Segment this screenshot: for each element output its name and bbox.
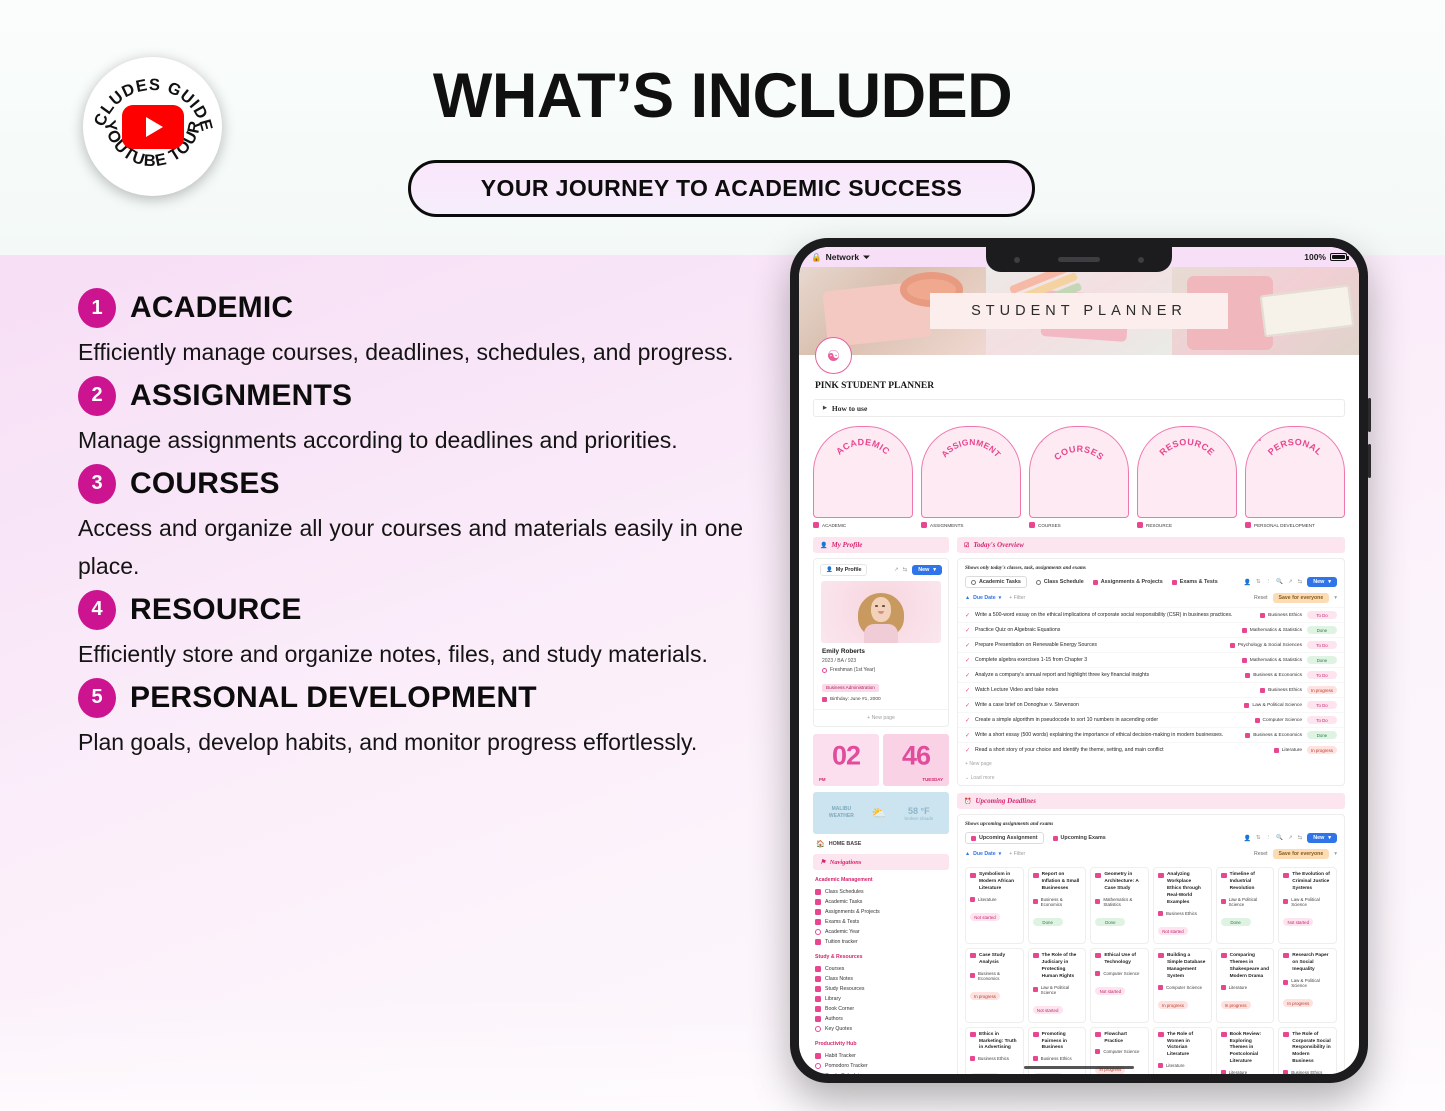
item-label: Library xyxy=(825,996,841,1002)
sidebar-item-academic-year[interactable]: Academic Year xyxy=(813,927,949,937)
check-icon[interactable]: ✓ xyxy=(965,717,970,724)
subject-tag: Business & Economics xyxy=(1253,673,1302,678)
sort-icon[interactable]: ⇅ xyxy=(1256,835,1261,841)
table-row: ✓Write a case brief on Donoghue v. Steve… xyxy=(958,697,1344,712)
feature-description: Efficiently store and organize notes, fi… xyxy=(78,636,743,674)
sort-due-date[interactable]: ▲ Due Date ▾ xyxy=(965,595,1001,601)
battery-icon xyxy=(1330,253,1347,261)
person-icon: 👤 xyxy=(820,542,827,549)
new-page-button[interactable]: + New page xyxy=(814,709,948,726)
sidebar-item-key-quotes[interactable]: Key Quotes xyxy=(813,1024,949,1034)
deadline-title: Timeline of Industrial Revolution xyxy=(1221,872,1270,893)
book-icon xyxy=(1158,873,1164,878)
nav-card-courses-tile[interactable]: COURSES xyxy=(1029,426,1129,518)
deadline-subject: Law & Political Science xyxy=(1221,897,1270,907)
nav-card-resource[interactable]: RESOURCE xyxy=(1137,426,1237,528)
check-icon[interactable]: ✓ xyxy=(965,687,970,694)
nav-card-assignment[interactable]: ASSIGNMENT xyxy=(921,426,1021,528)
deadline-title: Flowchart Practice xyxy=(1095,1032,1144,1046)
group-label: Productivity Hub xyxy=(815,1041,949,1047)
task-text: Watch Lecture Video and take notes xyxy=(975,687,1255,693)
youtube-tour-badge[interactable]: INCLUDES GUIDED YOUTUBE TOUR xyxy=(83,57,222,196)
calendar-icon: ⏰ xyxy=(964,798,971,805)
status-badge: In progress xyxy=(1221,1001,1251,1009)
caption-label: RESOURCE xyxy=(1146,523,1172,528)
deadline-card[interactable]: The Evolution of Criminal Justice System… xyxy=(1278,867,1337,944)
deadline-title: The Role of the Judiciary in Protecting … xyxy=(1033,953,1082,981)
profile-photo xyxy=(821,581,941,643)
save-for-everyone-button[interactable]: Save for everyone xyxy=(1273,593,1330,603)
nav-card-assignment-caption: ASSIGNMENTS xyxy=(921,522,1021,528)
sidebar: 👤 My Profile 👤 My Profile ↗ ⇆ xyxy=(813,537,949,1074)
item-label: Academic Tasks xyxy=(825,899,862,905)
sort-due-date[interactable]: ▲ Due Date ▾ xyxy=(965,851,1001,857)
expand-icon[interactable]: ↗ xyxy=(894,567,899,573)
subject-tag: Business & Economics xyxy=(1253,733,1302,738)
feature-title: COURSES xyxy=(130,467,280,501)
item-label: Class Schedules xyxy=(825,889,864,895)
new-page-button[interactable]: + New page xyxy=(958,757,1344,771)
sidebar-item-assignments-projects[interactable]: Assignments & Projects xyxy=(813,907,949,917)
status-badge: Done xyxy=(970,1073,1000,1074)
check-icon[interactable]: ✓ xyxy=(965,627,970,634)
status-badge: To Do xyxy=(1307,641,1337,649)
clipboard-pencil-icon xyxy=(921,426,942,447)
profile-name: Emily Roberts xyxy=(822,648,940,655)
overview-tabs: Academic Tasks Class Schedule Assignment… xyxy=(958,571,1344,593)
chevron-down-icon[interactable]: ▾ xyxy=(1334,595,1337,601)
sidebar-item-academic-tasks[interactable]: Academic Tasks xyxy=(813,897,949,907)
deadline-card[interactable]: Research Paper on Social InequalityLaw &… xyxy=(1278,948,1337,1023)
sidebar-item-class-schedules[interactable]: Class Schedules xyxy=(813,887,949,897)
deadline-title: Promoting Fairness in Business xyxy=(1033,1032,1082,1053)
check-icon[interactable]: ✓ xyxy=(965,657,970,664)
status-badge: In progress xyxy=(1158,1001,1188,1009)
new-page-label: New page xyxy=(872,715,895,721)
tablet-notch xyxy=(986,247,1172,272)
feature-number: 3 xyxy=(78,464,116,504)
sidebar-item-book-corner[interactable]: Book Corner xyxy=(813,1004,949,1014)
tab-assignments-projects[interactable]: Assignments & Projects xyxy=(1093,579,1163,585)
subject-tag: Business Ethics xyxy=(1268,688,1302,693)
svg-text:RESOURCE: RESOURCE xyxy=(1158,437,1217,458)
expand-icon[interactable]: ↗ xyxy=(1288,579,1293,585)
home-base-link[interactable]: 🏠 HOME BASE xyxy=(813,834,949,848)
nav-card-assignment-tile[interactable]: ASSIGNMENT xyxy=(921,426,1021,518)
deadline-card[interactable]: Building a Simple Database Management Sy… xyxy=(1153,948,1212,1023)
book-icon xyxy=(1095,873,1101,878)
weather-label: WEATHER xyxy=(829,813,854,821)
tab-upcoming-exams[interactable]: Upcoming Exams xyxy=(1053,835,1106,841)
item-label: Authors xyxy=(825,1016,843,1022)
todays-overview-header: ☑ Today's Overview xyxy=(957,537,1345,553)
birthday-label: Birthday: June #1, 2000 xyxy=(830,697,881,702)
save-for-everyone-button[interactable]: Save for everyone xyxy=(1273,849,1330,859)
person-add-icon[interactable]: 👤 xyxy=(1244,835,1251,842)
feature-description: Manage assignments according to deadline… xyxy=(78,422,743,460)
status-badge: Not started xyxy=(1283,918,1313,926)
task-text: Write a case brief on Donoghue v. Steven… xyxy=(975,702,1239,708)
feature-title: ACADEMIC xyxy=(130,291,293,325)
deadline-subject: Computer Science xyxy=(1158,985,1207,990)
feature-item: 1 ACADEMIC Efficiently manage courses, d… xyxy=(78,288,748,372)
deadline-title: Comparing Themes in Shakespeare and Mode… xyxy=(1221,953,1270,981)
tab-exams-tests[interactable]: Exams & Tests xyxy=(1172,579,1218,585)
avatar xyxy=(866,591,896,631)
status-badge: To Do xyxy=(1307,716,1337,724)
deadline-card[interactable]: Ethical Use of TechnologyComputer Scienc… xyxy=(1090,948,1149,1023)
chevron-down-icon: ▾ xyxy=(1328,579,1331,585)
nav-card-personal[interactable]: PERSONAL xyxy=(1245,426,1345,528)
tab-label: Assignments & Projects xyxy=(1101,579,1163,585)
sidebar-item-exams-tests[interactable]: Exams & Tests xyxy=(813,917,949,927)
sidebar-item-courses[interactable]: Courses xyxy=(813,964,949,974)
card-toolbar[interactable]: ↗ ⇆ xyxy=(894,567,907,573)
circle-icon xyxy=(822,668,827,673)
section-title: My Profile xyxy=(831,541,862,549)
deadline-subject: Business Ethics xyxy=(1158,911,1207,916)
table-row: ✓Practice Quiz on Algebraic EquationsMat… xyxy=(958,622,1344,637)
status-badge: In progress xyxy=(1033,1073,1063,1074)
chevron-down-icon: ▾ xyxy=(933,567,936,573)
task-text: Write a short essay (500 words) explaini… xyxy=(975,732,1240,738)
sort-icon[interactable]: ⇅ xyxy=(1256,579,1261,585)
check-icon[interactable]: ✓ xyxy=(965,732,970,739)
deadline-title: Geometry in Architecture: A Case Study xyxy=(1095,872,1144,893)
new-button[interactable]: New ▾ xyxy=(1307,833,1337,843)
sidebar-item-grade-calculator[interactable]: Grade Calculator xyxy=(813,1071,949,1074)
deadline-card[interactable]: Timeline of Industrial RevolutionLaw & P… xyxy=(1216,867,1275,944)
tab-upcoming-assignment[interactable]: Upcoming Assignment xyxy=(965,832,1044,844)
book-icon xyxy=(1033,873,1039,878)
filter-icon[interactable]: ⋮ xyxy=(1266,579,1272,585)
sensor-icon xyxy=(1138,257,1144,263)
clock-widget: 02 PM 46 TUESDAY xyxy=(813,734,949,786)
nav-card-resource-tile[interactable]: RESOURCE xyxy=(1137,426,1237,518)
deadline-title: Book Review: Exploring Themes in Postcol… xyxy=(1221,1032,1270,1067)
status-badge: In progress xyxy=(1307,686,1337,694)
caption-label: COURSES xyxy=(1038,523,1061,528)
status-badge: Not started xyxy=(970,913,1000,921)
status-badge: Not started xyxy=(1033,1006,1063,1014)
info-icon xyxy=(1245,522,1251,528)
group-label: Academic Management xyxy=(815,877,949,883)
year-label: Freshman (1st Year) xyxy=(830,667,875,673)
status-badge: Done xyxy=(1221,918,1251,926)
book-icon xyxy=(970,1032,976,1037)
book-icon xyxy=(970,873,976,878)
network-label: Network xyxy=(826,252,860,262)
tab-label: Class Schedule xyxy=(1044,579,1084,585)
folder-icon xyxy=(813,522,819,528)
svg-text:ACADEMIC: ACADEMIC xyxy=(834,437,892,457)
check-icon[interactable]: ✓ xyxy=(965,702,970,709)
item-label: Grade Calculator xyxy=(825,1073,864,1074)
book-icon xyxy=(1095,953,1101,958)
tab-label: Academic Tasks xyxy=(979,579,1021,585)
book-icon xyxy=(1221,1032,1227,1037)
deadline-subject: Business Ethics xyxy=(1283,1070,1332,1074)
task-text: Read a short story of your choice and id… xyxy=(975,747,1269,753)
nav-card-academic-tile[interactable]: ACADEMIC xyxy=(813,426,913,518)
new-label: New xyxy=(1313,579,1324,585)
wifi-icon: ⏷ xyxy=(863,252,870,263)
sidebar-item-study-resources[interactable]: Study Resources xyxy=(813,984,949,994)
deadline-card[interactable]: The Role of the Judiciary in Protecting … xyxy=(1028,948,1087,1023)
feature-title: PERSONAL DEVELOPMENT xyxy=(130,681,537,715)
sidebar-item-habit-tracker[interactable]: Habit Tracker xyxy=(813,1051,949,1061)
deadline-card[interactable]: The Role of Women in Victorian Literatur… xyxy=(1153,1027,1212,1074)
page-title: WHAT’S INCLUDED xyxy=(300,60,1145,132)
deadline-subject: Literature xyxy=(970,897,1019,902)
birthday-row: Birthday: June #1, 2000 xyxy=(822,697,940,702)
new-button[interactable]: New ▾ xyxy=(912,565,942,575)
person-growth-icon xyxy=(1245,426,1266,447)
check-icon[interactable]: ✓ xyxy=(965,747,970,754)
status-badge: To Do xyxy=(1307,701,1337,709)
deadlines-card: Shows upcoming assignments and exams Upc… xyxy=(957,814,1345,1074)
group-label: Study & Resources xyxy=(815,954,949,960)
chevron-down-icon: ▾ xyxy=(999,595,1002,601)
youtube-play-icon xyxy=(122,105,184,149)
tab-academic-tasks[interactable]: Academic Tasks xyxy=(965,576,1027,588)
pin-icon: ⚑ xyxy=(820,858,826,866)
task-list: ✓Write a 500-word essay on the ethical i… xyxy=(958,607,1344,757)
deadline-subject: Business Ethics xyxy=(1033,1056,1082,1061)
deadline-subject: Business Ethics xyxy=(970,1056,1019,1061)
nav-card-row: ACADEMIC xyxy=(799,417,1359,528)
status-badge: To Do xyxy=(1307,671,1337,679)
feature-description: Plan goals, develop habits, and monitor … xyxy=(78,724,743,762)
nav-card-courses[interactable]: COURSES xyxy=(1029,426,1129,528)
status-badge: In progress xyxy=(1283,999,1313,1007)
feature-number: 5 xyxy=(78,678,116,718)
deadline-title: Research Paper on Social Inequality xyxy=(1283,953,1332,974)
overview-card: Shows only today's classes, task, assign… xyxy=(957,558,1345,786)
book-icon xyxy=(1283,953,1289,958)
meridiem-label: PM xyxy=(819,777,826,782)
item-label: Exams & Tests xyxy=(825,919,859,925)
item-label: Pomodoro Tracker xyxy=(825,1063,868,1069)
deadline-card[interactable]: Case Study AnalysisBusiness & EconomicsI… xyxy=(965,948,1024,1023)
deadline-title: Report on Inflation & Small Businesses xyxy=(1033,872,1082,893)
tab-label: Upcoming Assignment xyxy=(979,835,1038,841)
item-label: Assignments & Projects xyxy=(825,909,880,915)
chevron-down-icon[interactable]: ▾ xyxy=(1334,851,1337,857)
tab-class-schedule[interactable]: Class Schedule xyxy=(1036,579,1084,585)
chevron-down-icon: ▾ xyxy=(1328,835,1331,841)
hero-title: STUDENT PLANNER xyxy=(930,293,1228,329)
person-add-icon[interactable]: 👤 xyxy=(1244,579,1251,586)
item-label: Habit Tracker xyxy=(825,1053,856,1059)
condition-label: broken clouds xyxy=(904,816,933,821)
task-text: Write a 500-word essay on the ethical im… xyxy=(975,612,1255,618)
table-row: ✓Analyze a company's annual report and h… xyxy=(958,667,1344,682)
book-icon xyxy=(1221,873,1227,878)
home-indicator xyxy=(1024,1066,1134,1070)
check-icon[interactable]: ✓ xyxy=(965,672,970,679)
search-icon[interactable]: 🔍 xyxy=(1276,579,1283,585)
deadlines-filterbar: ▲ Due Date ▾ + Filter Reset Save for eve… xyxy=(958,849,1344,863)
clock-minutes: 46 TUESDAY xyxy=(883,734,949,786)
weather-readout: 58 °F broken clouds xyxy=(904,806,933,821)
profile-chip[interactable]: 👤 My Profile xyxy=(820,564,867,576)
subtitle-pill: YOUR JOURNEY TO ACADEMIC SUCCESS xyxy=(408,160,1035,217)
deadline-subject: Business & Economics xyxy=(970,971,1019,981)
subject-tag: Law & Political Science xyxy=(1252,703,1302,708)
deadline-card[interactable]: Geometry in Architecture: A Case StudyMa… xyxy=(1090,867,1149,944)
home-base-label: HOME BASE xyxy=(829,841,862,847)
monitor-book-icon xyxy=(1137,426,1158,447)
deadline-subject: Mathematics & Statistics xyxy=(1095,897,1144,907)
reset-button[interactable]: Reset xyxy=(1254,595,1268,601)
new-button[interactable]: New ▾ xyxy=(1307,577,1337,587)
tablet-mockup: 🔒 Network ⏷ 100% STUDENT PLANNER ☯ PINK … xyxy=(790,238,1368,1083)
how-to-use-toggle[interactable]: ▶ How to use xyxy=(813,399,1345,417)
brand-logo-icon: ☯ xyxy=(815,337,852,374)
sidebar-item-tuition-tracker[interactable]: Tuition tracker xyxy=(813,937,949,947)
task-text: Create a simple algorithm in pseudocode … xyxy=(975,717,1250,723)
item-label: Courses xyxy=(825,966,844,972)
minutes-value: 46 xyxy=(902,740,930,771)
table-row: ✓Prepare Presentation on Renewable Energ… xyxy=(958,637,1344,652)
collapse-icon[interactable]: ⇆ xyxy=(1298,579,1303,585)
nav-card-personal-tile[interactable]: PERSONAL xyxy=(1245,426,1345,518)
deadline-card[interactable]: Book Review: Exploring Themes in Postcol… xyxy=(1216,1027,1275,1074)
nav-card-courses-caption: COURSES xyxy=(1029,522,1129,528)
deadline-card[interactable]: Comparing Themes in Shakespeare and Mode… xyxy=(1216,948,1275,1023)
table-row: ✓Read a short story of your choice and i… xyxy=(958,742,1344,757)
deadline-subject: Literature xyxy=(1221,1070,1270,1074)
feature-description: Access and organize all your courses and… xyxy=(78,510,743,586)
checklist-icon: ☑ xyxy=(964,542,969,549)
subject-tag: Psychology & Social Sciences xyxy=(1238,643,1302,648)
home-icon: 🏠 xyxy=(816,840,825,848)
deadline-title: Ethical Use of Technology xyxy=(1095,953,1144,967)
filter-icon[interactable]: ⋮ xyxy=(1266,835,1272,841)
nav-group-academic: Academic Management Class Schedules Acad… xyxy=(813,877,949,947)
reset-button[interactable]: Reset xyxy=(1254,851,1268,857)
chip-label: My Profile xyxy=(836,567,862,573)
person-icon: 👤 xyxy=(826,567,833,573)
new-page-label: New page xyxy=(969,761,992,767)
deadline-card[interactable]: The Role of Corporate Social Responsibil… xyxy=(1278,1027,1337,1074)
deadline-subject: Literature xyxy=(1158,1063,1207,1068)
subject-tag: Computer Science xyxy=(1263,718,1302,723)
deadline-card[interactable]: Analyzing Workplace Ethics through Real-… xyxy=(1153,867,1212,944)
deadline-card[interactable]: Symbolism in Modern African LiteratureLi… xyxy=(965,867,1024,944)
task-text: Analyze a company's annual report and hi… xyxy=(975,672,1240,678)
books-icon xyxy=(1029,426,1050,447)
task-text: Complete algebra exercises 1-15 from Cha… xyxy=(975,657,1237,663)
camera-icon xyxy=(1014,257,1020,263)
how-to-use-label: How to use xyxy=(832,404,867,413)
folder-icon xyxy=(1137,522,1143,528)
table-row: ✓Write a 500-word essay on the ethical i… xyxy=(958,607,1344,622)
speaker-grille xyxy=(1058,257,1100,262)
subject-tag: Mathematics & Statistics xyxy=(1250,658,1302,663)
hero-banner: STUDENT PLANNER xyxy=(799,267,1359,355)
sidebar-item-authors[interactable]: Authors xyxy=(813,1014,949,1024)
tab-label: Upcoming Exams xyxy=(1061,835,1106,841)
city-label: MALIBU xyxy=(829,806,854,814)
add-filter-button[interactable]: + Filter xyxy=(1009,595,1025,601)
deadline-card-grid: Symbolism in Modern African LiteratureLi… xyxy=(958,863,1344,1074)
status-badge: Done xyxy=(1033,918,1063,926)
check-icon[interactable]: ✓ xyxy=(965,642,970,649)
deadline-title: Symbolism in Modern African Literature xyxy=(970,872,1019,893)
table-row: ✓Create a simple algorithm in pseudocode… xyxy=(958,712,1344,727)
section-title: Upcoming Deadlines xyxy=(975,797,1035,805)
collapse-icon[interactable]: ⇆ xyxy=(1298,835,1303,841)
search-icon[interactable]: 🔍 xyxy=(1276,835,1283,841)
sidebar-item-library[interactable]: Library xyxy=(813,994,949,1004)
expand-icon[interactable]: ↗ xyxy=(1288,835,1293,841)
student-id: 2023 / BA / 923 xyxy=(822,658,940,664)
chevron-right-icon: ▶ xyxy=(823,405,827,411)
caption-label: PERSONAL DEVELOPMENT xyxy=(1254,523,1315,528)
weather-widget: MALIBU WEATHER ⛅ 58 °F broken clouds xyxy=(813,792,949,834)
subject-tag: Business Ethics xyxy=(1268,613,1302,618)
filter-label: Filter xyxy=(1014,595,1026,601)
upcoming-deadlines-header: ⏰ Upcoming Deadlines xyxy=(957,793,1345,809)
load-more-button[interactable]: ⌄ Load more xyxy=(958,771,1344,785)
sidebar-item-class-notes[interactable]: Class Notes xyxy=(813,974,949,984)
add-filter-button[interactable]: + Filter xyxy=(1009,851,1025,857)
profile-card: 👤 My Profile ↗ ⇆ New ▾ xyxy=(813,558,949,727)
deadline-card[interactable]: Ethics in Marketing: Truth in Advertisin… xyxy=(965,1027,1024,1074)
temperature-value: 58 °F xyxy=(904,806,933,816)
task-text: Practice Quiz on Algebraic Equations xyxy=(975,627,1237,633)
deadline-title: The Role of Women in Victorian Literatur… xyxy=(1158,1032,1207,1060)
major-tag: Business Administration xyxy=(822,684,879,692)
svg-text:PERSONAL: PERSONAL xyxy=(1266,437,1324,457)
deadline-card[interactable]: Report on Inflation & Small BusinessesBu… xyxy=(1028,867,1087,944)
navigations-header: ⚑ Navigations xyxy=(813,854,949,870)
table-row: ✓Complete algebra exercises 1-15 from Ch… xyxy=(958,652,1344,667)
folder-icon xyxy=(1029,522,1035,528)
overview-note: Shows only today's classes, task, assign… xyxy=(958,559,1344,571)
status-badge: Not started xyxy=(1095,987,1125,995)
new-label: New xyxy=(1313,835,1324,841)
sort-label: Due Date xyxy=(973,595,996,601)
work-area: 👤 My Profile 👤 My Profile ↗ ⇆ xyxy=(799,528,1359,1074)
feature-number: 2 xyxy=(78,376,116,416)
graduation-network-icon xyxy=(813,426,834,447)
check-icon[interactable]: ✓ xyxy=(965,612,970,619)
nav-card-academic[interactable]: ACADEMIC xyxy=(813,426,913,528)
status-badge: In progress xyxy=(1307,746,1337,754)
nav-group-study: Study & Resources Courses Class Notes St… xyxy=(813,954,949,1034)
year-row: Freshman (1st Year) xyxy=(822,667,940,673)
sidebar-item-pomodoro-tracker[interactable]: Pomodoro Tracker xyxy=(813,1061,949,1071)
status-badge: Done xyxy=(1307,626,1337,634)
folder-icon xyxy=(921,522,927,528)
svg-text:ASSIGNMENT: ASSIGNMENT xyxy=(939,437,1003,460)
status-badge: To Do xyxy=(1307,611,1337,619)
deadline-title: Ethics in Marketing: Truth in Advertisin… xyxy=(970,1032,1019,1053)
book-icon xyxy=(1283,1032,1289,1037)
table-row: ✓Write a short essay (500 words) explain… xyxy=(958,727,1344,742)
deadline-title: The Evolution of Criminal Justice System… xyxy=(1283,872,1332,893)
filter-icon[interactable]: ⇆ xyxy=(903,567,908,573)
book-icon xyxy=(1095,1032,1101,1037)
deadline-title: The Role of Corporate Social Responsibil… xyxy=(1283,1032,1332,1067)
tab-label: Exams & Tests xyxy=(1180,579,1218,585)
deadline-subject: Law & Political Science xyxy=(1283,897,1332,907)
task-text: Prepare Presentation on Renewable Energy… xyxy=(975,642,1225,648)
load-more-label: Load more xyxy=(971,775,995,781)
